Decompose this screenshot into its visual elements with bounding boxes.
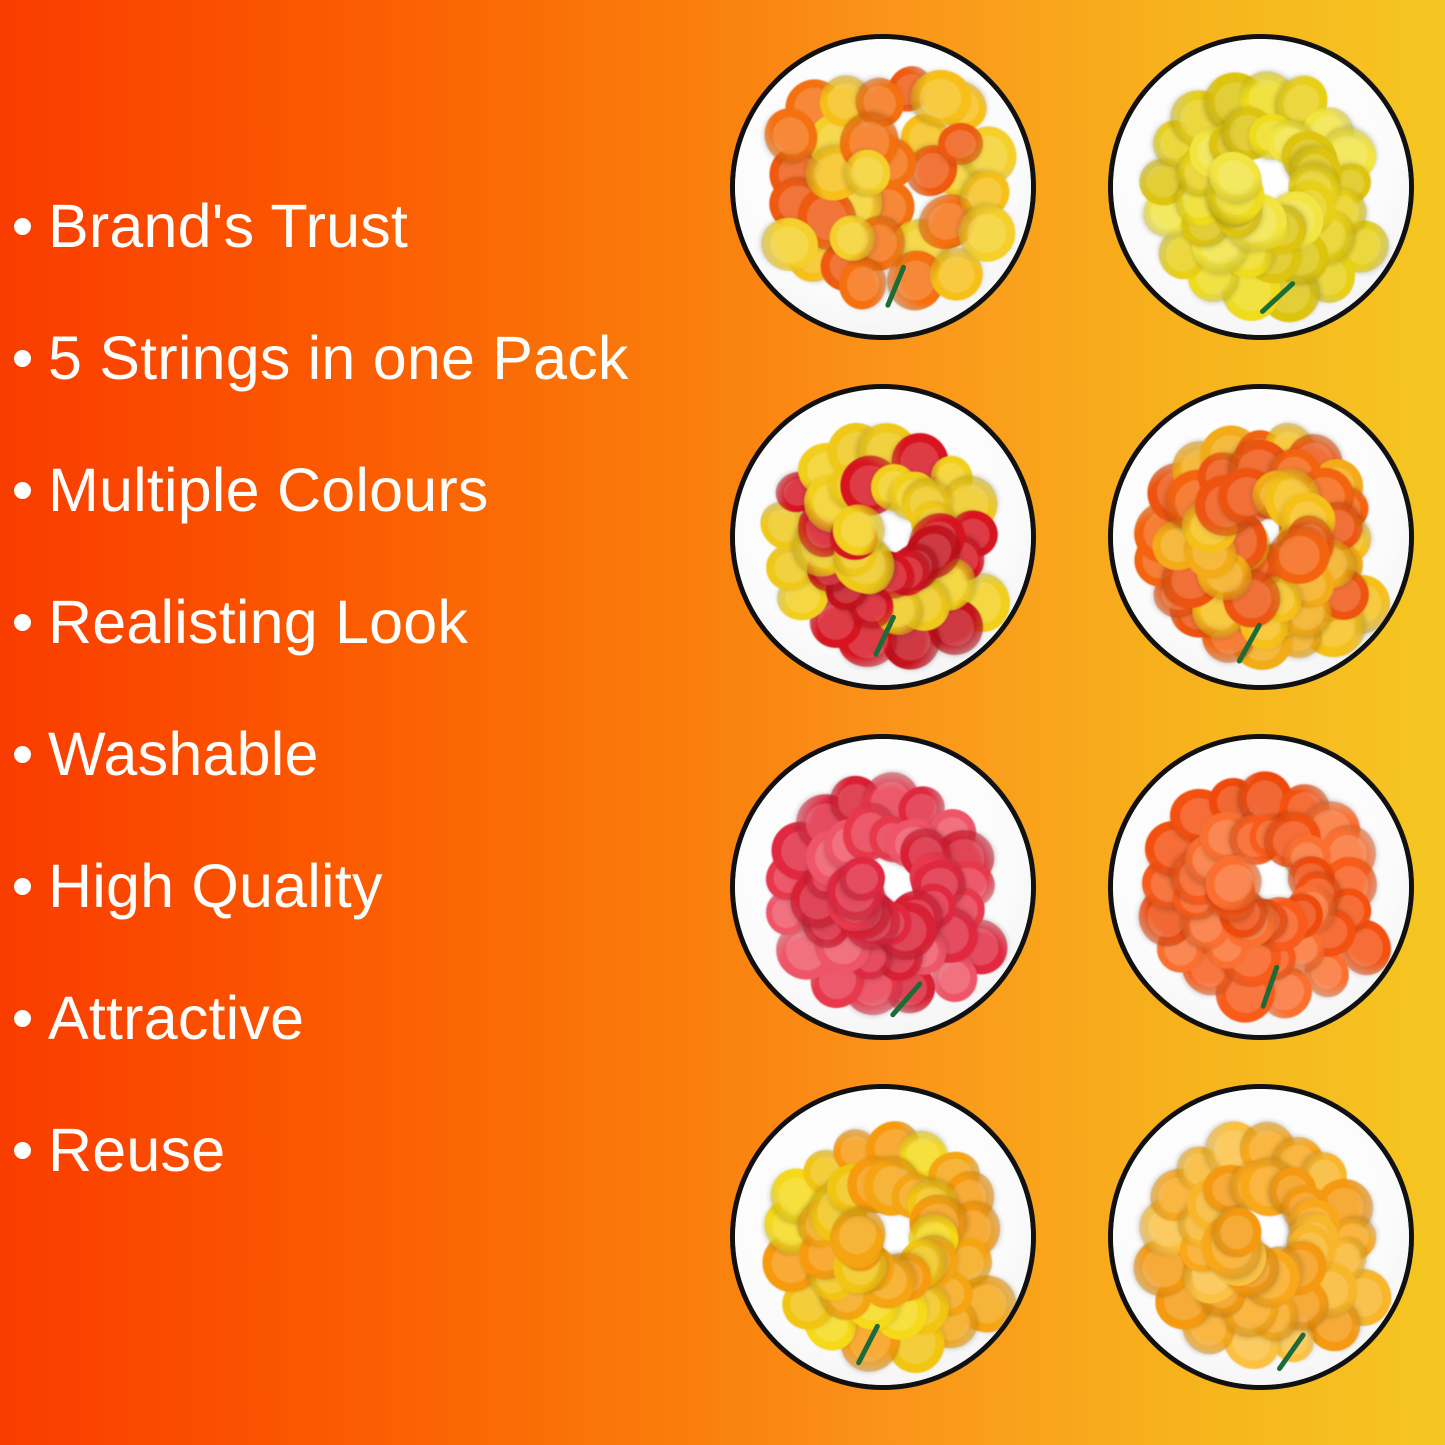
feature-item-high-quality: High Quality <box>0 856 700 988</box>
bullet-icon <box>14 218 31 235</box>
garland-image <box>1113 389 1409 685</box>
garland-image <box>735 1089 1031 1385</box>
feature-item-brands-trust: Brand's Trust <box>0 196 700 328</box>
feature-item-washable: Washable <box>0 724 700 856</box>
bullet-icon <box>14 878 31 895</box>
product-photo-tile <box>1108 734 1414 1040</box>
product-photo-tile <box>1108 1084 1414 1390</box>
bullet-icon <box>14 1010 31 1027</box>
garland-image <box>1113 739 1409 1035</box>
product-photo-tile <box>730 734 1036 1040</box>
product-photo-tile <box>730 384 1036 690</box>
product-photo-tile <box>1108 384 1414 690</box>
bullet-icon <box>14 350 31 367</box>
garland-image <box>735 389 1031 685</box>
bullet-icon <box>14 482 31 499</box>
feature-item-multiple-colours: Multiple Colours <box>0 460 700 592</box>
product-photo-tile <box>730 1084 1036 1390</box>
feature-label: Brand's Trust <box>48 196 408 257</box>
feature-label: Washable <box>48 724 319 785</box>
feature-label: Attractive <box>48 988 304 1049</box>
garland-image <box>735 739 1031 1035</box>
feature-label: Realisting Look <box>48 592 468 653</box>
garland-image <box>1113 1089 1409 1385</box>
garland-image <box>735 39 1031 335</box>
bullet-icon <box>14 1142 31 1159</box>
product-photo-tile <box>730 34 1036 340</box>
feature-list: Brand's Trust 5 Strings in one Pack Mult… <box>0 196 700 1252</box>
feature-item-realistic-look: Realisting Look <box>0 592 700 724</box>
product-photo-grid <box>730 34 1430 1414</box>
feature-item-attractive: Attractive <box>0 988 700 1120</box>
marigold-flower <box>910 69 972 127</box>
bullet-icon <box>14 614 31 631</box>
product-feature-poster: Brand's Trust 5 Strings in one Pack Mult… <box>0 0 1445 1445</box>
bullet-icon <box>14 746 31 763</box>
feature-label: Multiple Colours <box>48 460 489 521</box>
feature-item-strings-per-pack: 5 Strings in one Pack <box>0 328 700 460</box>
garland-image <box>1113 39 1409 335</box>
feature-label: High Quality <box>48 856 383 917</box>
product-photo-tile <box>1108 34 1414 340</box>
feature-label: Reuse <box>48 1120 225 1181</box>
feature-item-reuse: Reuse <box>0 1120 700 1252</box>
feature-label: 5 Strings in one Pack <box>48 328 629 389</box>
